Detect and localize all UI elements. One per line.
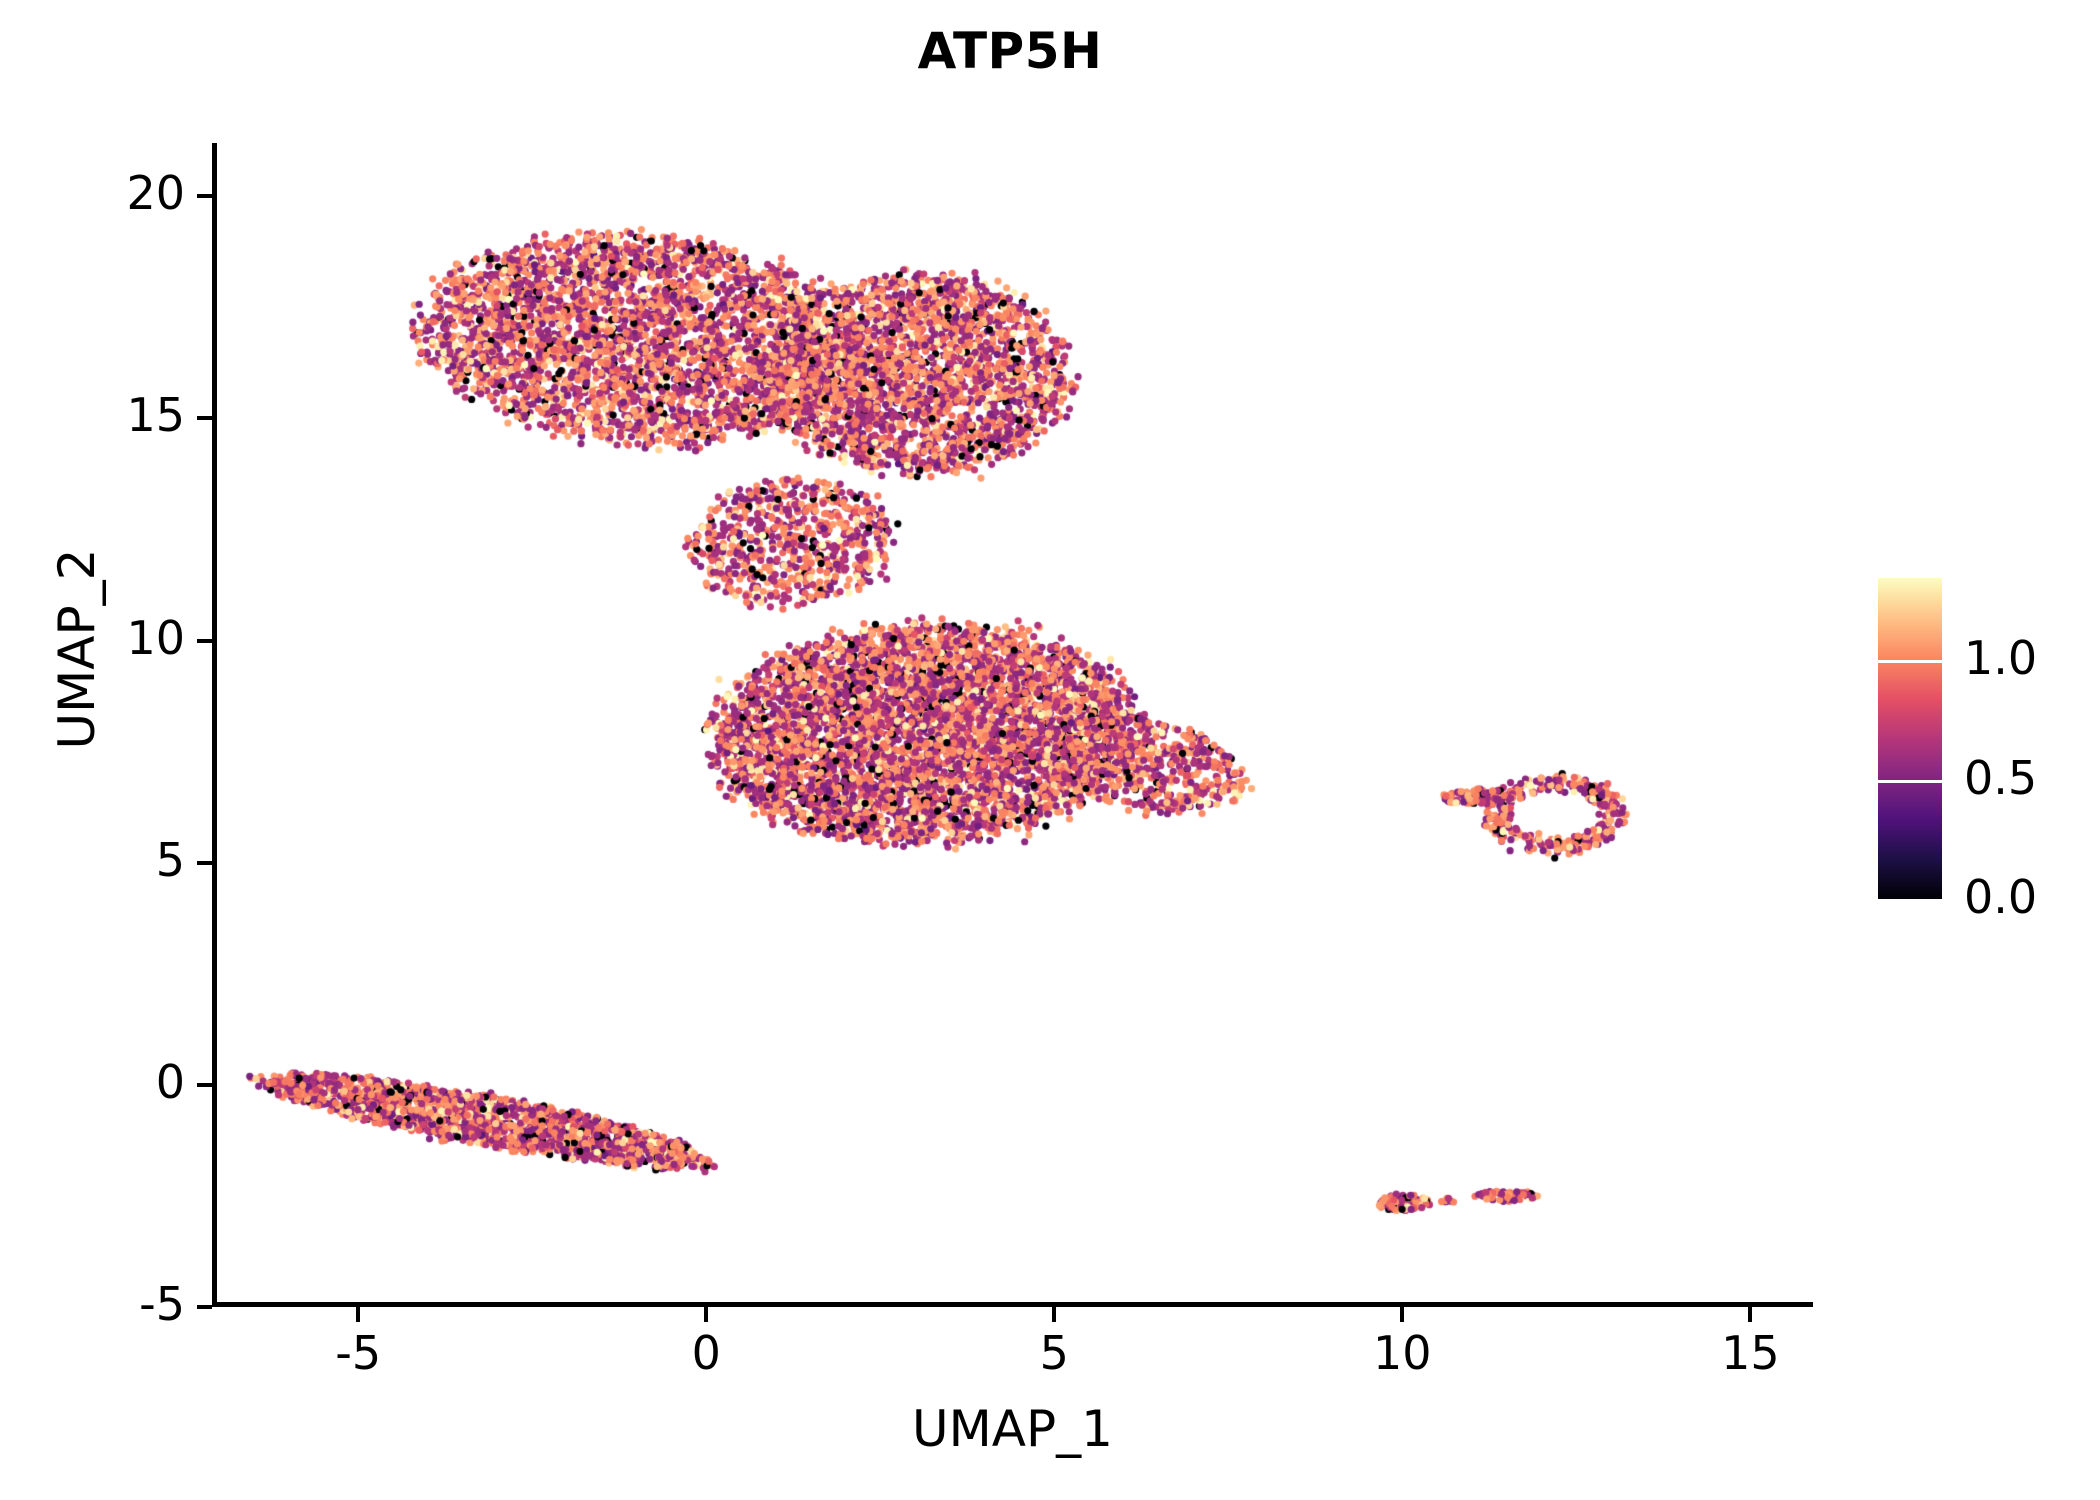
y-tick-mark — [197, 861, 212, 865]
y-tick-mark — [197, 194, 212, 198]
colorbar-tick-label: 0.0 — [1964, 870, 2037, 924]
y-tick-label: 20 — [17, 166, 185, 220]
page-title: ATP5H — [0, 22, 2020, 80]
y-tick-mark — [197, 1305, 212, 1309]
y-tick-mark — [197, 1083, 212, 1087]
x-tick-label: 15 — [1670, 1326, 1830, 1380]
axis-spine-bottom — [212, 1302, 1813, 1307]
x-tick-label: 5 — [974, 1326, 1134, 1380]
y-tick-label: 0 — [17, 1055, 185, 1109]
axis-spine-left — [212, 143, 217, 1307]
x-tick-label: -5 — [278, 1326, 438, 1380]
x-tick-mark — [704, 1307, 708, 1322]
colorbar-gradient — [1878, 578, 1942, 900]
colorbar-tick-mark — [1878, 660, 1942, 663]
y-tick-mark — [197, 416, 212, 420]
plot-axes-area — [212, 143, 1813, 1307]
x-axis-label: UMAP_1 — [212, 1400, 1813, 1458]
colorbar-tick-label: 1.0 — [1964, 631, 2037, 685]
scatter-points-canvas — [212, 143, 1813, 1307]
x-tick-mark — [356, 1307, 360, 1322]
y-axis-label: UMAP_2 — [48, 299, 106, 999]
x-tick-mark — [1052, 1307, 1056, 1322]
colorbar-tick-mark — [1878, 899, 1942, 902]
x-tick-label: 0 — [626, 1326, 786, 1380]
colorbar-tick-label: 0.5 — [1964, 751, 2037, 805]
y-tick-mark — [197, 639, 212, 643]
y-tick-label: -5 — [17, 1277, 185, 1331]
x-tick-label: 10 — [1322, 1326, 1482, 1380]
x-tick-mark — [1400, 1307, 1404, 1322]
x-tick-mark — [1748, 1307, 1752, 1322]
umap-feature-plot: ATP5H -5051015 -505101520 UMAP_1 UMAP_2 … — [0, 0, 2100, 1500]
colorbar-tick-mark — [1878, 780, 1942, 783]
